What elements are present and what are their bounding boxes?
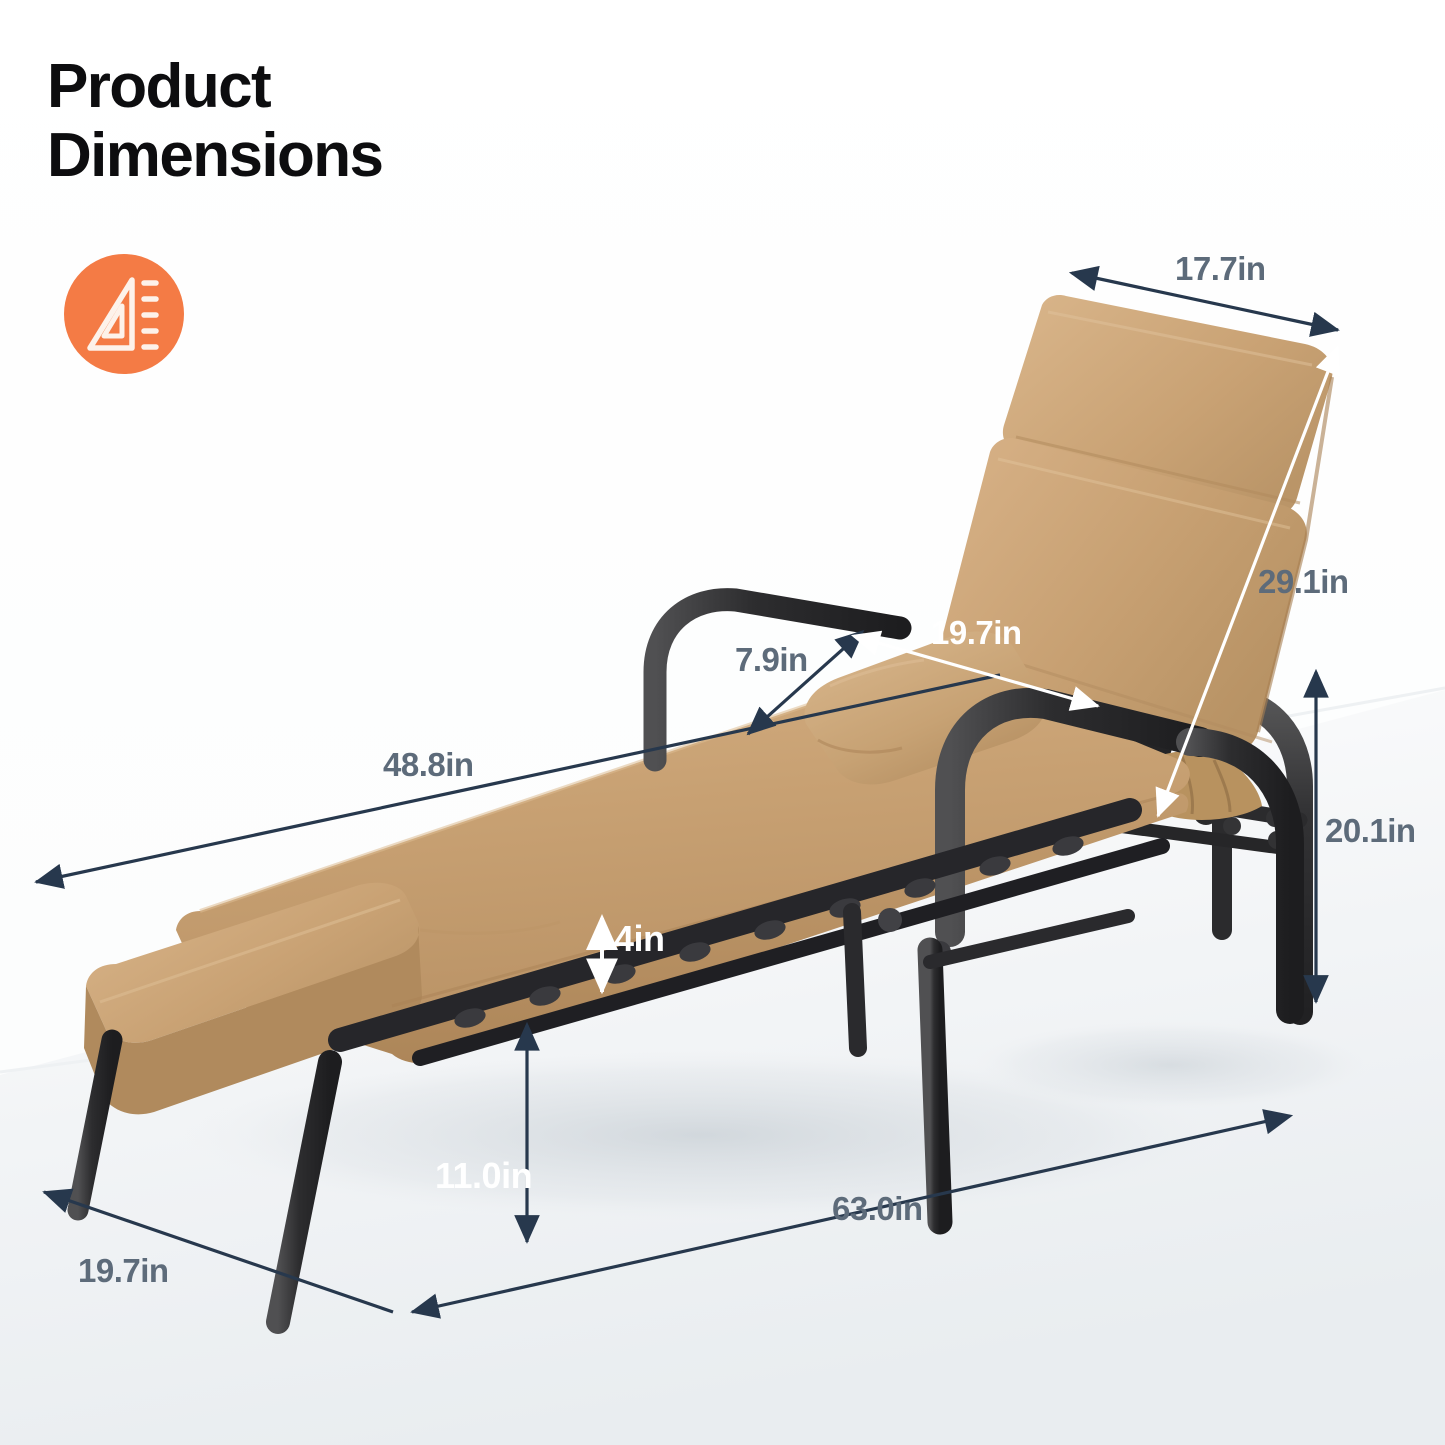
- ruler-triangle-icon: [64, 254, 184, 374]
- dimension-label-48-8in: 48.8in: [383, 746, 474, 784]
- leg-mid-far: [852, 912, 858, 1048]
- dimension-label-4in: 4in: [614, 918, 665, 960]
- infographic-canvas: Product Dimensions 17.7in 29.1in 20.1in …: [0, 0, 1445, 1445]
- page-title: Product Dimensions: [47, 52, 382, 191]
- dimension-label-29-1in: 29.1in: [1258, 563, 1349, 601]
- dimension-label-19-7in-seat: 19.7in: [931, 614, 1022, 652]
- dimension-label-20-1in: 20.1in: [1325, 812, 1416, 850]
- dimension-label-19-7in-width: 19.7in: [78, 1252, 169, 1290]
- dimension-label-11-0in: 11.0in: [435, 1155, 532, 1197]
- product-illustration: [0, 0, 1445, 1445]
- leg-mid-near: [930, 950, 940, 1222]
- dimension-label-7-9in: 7.9in: [735, 641, 808, 679]
- dimension-label-63-0in: 63.0in: [832, 1190, 923, 1228]
- dimension-label-17-7in: 17.7in: [1175, 250, 1266, 288]
